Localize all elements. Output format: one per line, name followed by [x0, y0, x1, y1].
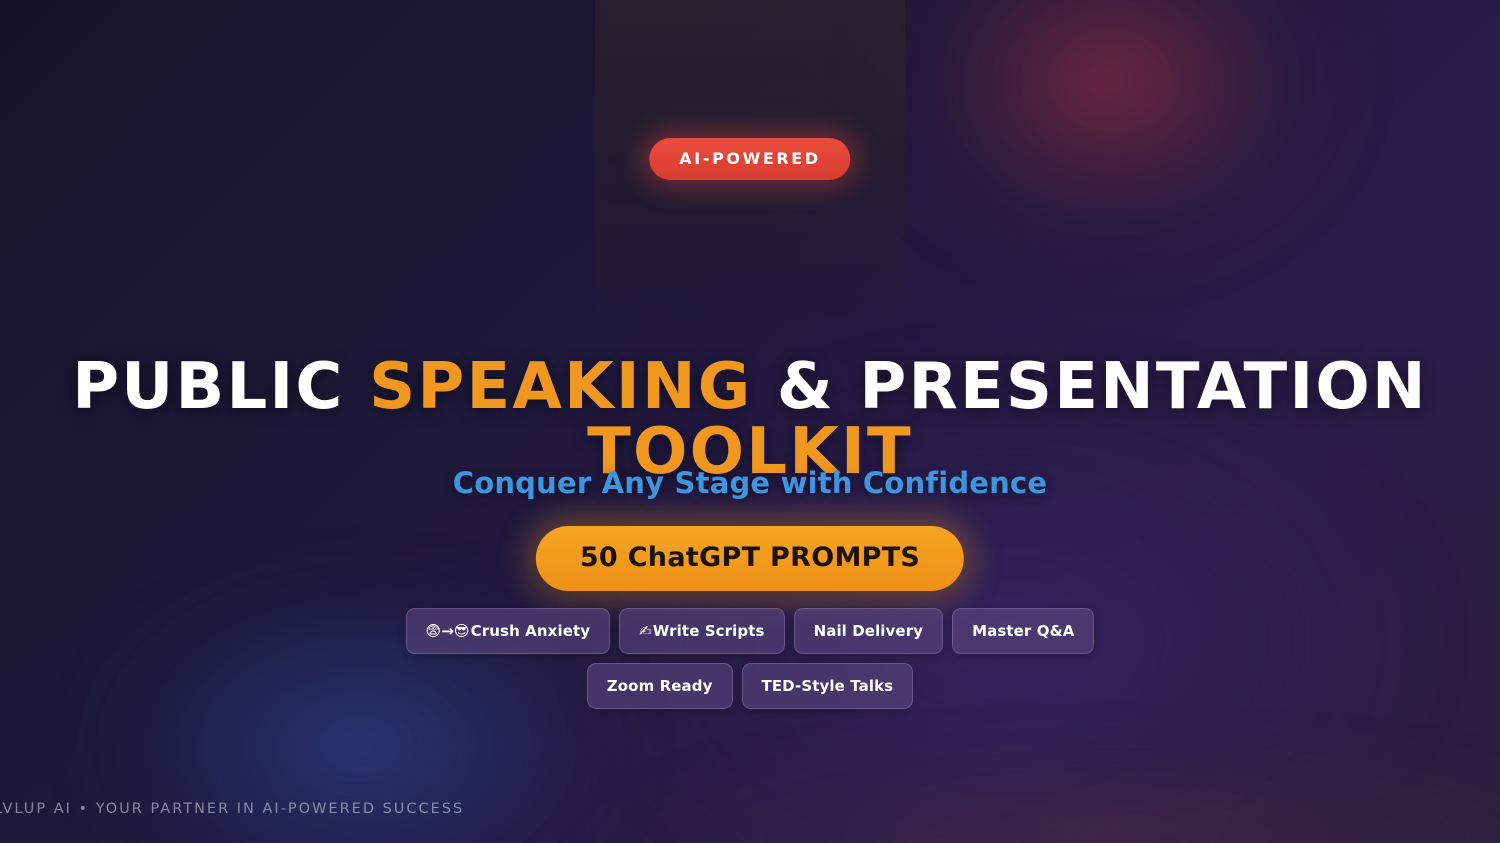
feature-chip-label: Master Q&A: [972, 622, 1074, 640]
feature-chip[interactable]: Master Q&A: [952, 608, 1094, 654]
page-subtitle: Conquer Any Stage with Confidence: [0, 466, 1500, 500]
ai-powered-badge: AI-POWERED: [649, 138, 850, 180]
feature-chip[interactable]: TED-Style Talks: [742, 663, 914, 709]
title-segment-public: PUBLIC: [72, 350, 369, 424]
hero-poster: AI-POWERED PUBLIC SPEAKING & PRESENTATIO…: [0, 0, 1500, 843]
anxiety-transformation-icon: 😨→😎: [426, 622, 470, 640]
feature-chip-label: Crush Anxiety: [471, 622, 590, 640]
feature-chip-list: 😨→😎Crush Anxiety ✍Write Scripts Nail Del…: [350, 608, 1150, 709]
title-segment-presentation: & PRESENTATION: [752, 350, 1427, 424]
title-segment-speaking: SPEAKING: [369, 350, 752, 424]
feature-chip-label: TED-Style Talks: [762, 677, 894, 695]
cta-button[interactable]: 50 ChatGPT PROMPTS: [536, 526, 964, 591]
hero-content: AI-POWERED PUBLIC SPEAKING & PRESENTATIO…: [0, 0, 1500, 843]
writing-hand-icon: ✍: [639, 622, 652, 640]
feature-chip[interactable]: ✍Write Scripts: [619, 608, 784, 654]
footer-tagline: LVLUP AI • YOUR PARTNER IN AI-POWERED SU…: [0, 801, 464, 817]
feature-chip-label: Write Scripts: [653, 622, 765, 640]
feature-chip-label: Nail Delivery: [814, 622, 924, 640]
feature-chip[interactable]: Nail Delivery: [794, 608, 944, 654]
feature-chip[interactable]: Zoom Ready: [587, 663, 733, 709]
feature-chip[interactable]: 😨→😎Crush Anxiety: [406, 608, 611, 654]
feature-chip-label: Zoom Ready: [607, 677, 713, 695]
